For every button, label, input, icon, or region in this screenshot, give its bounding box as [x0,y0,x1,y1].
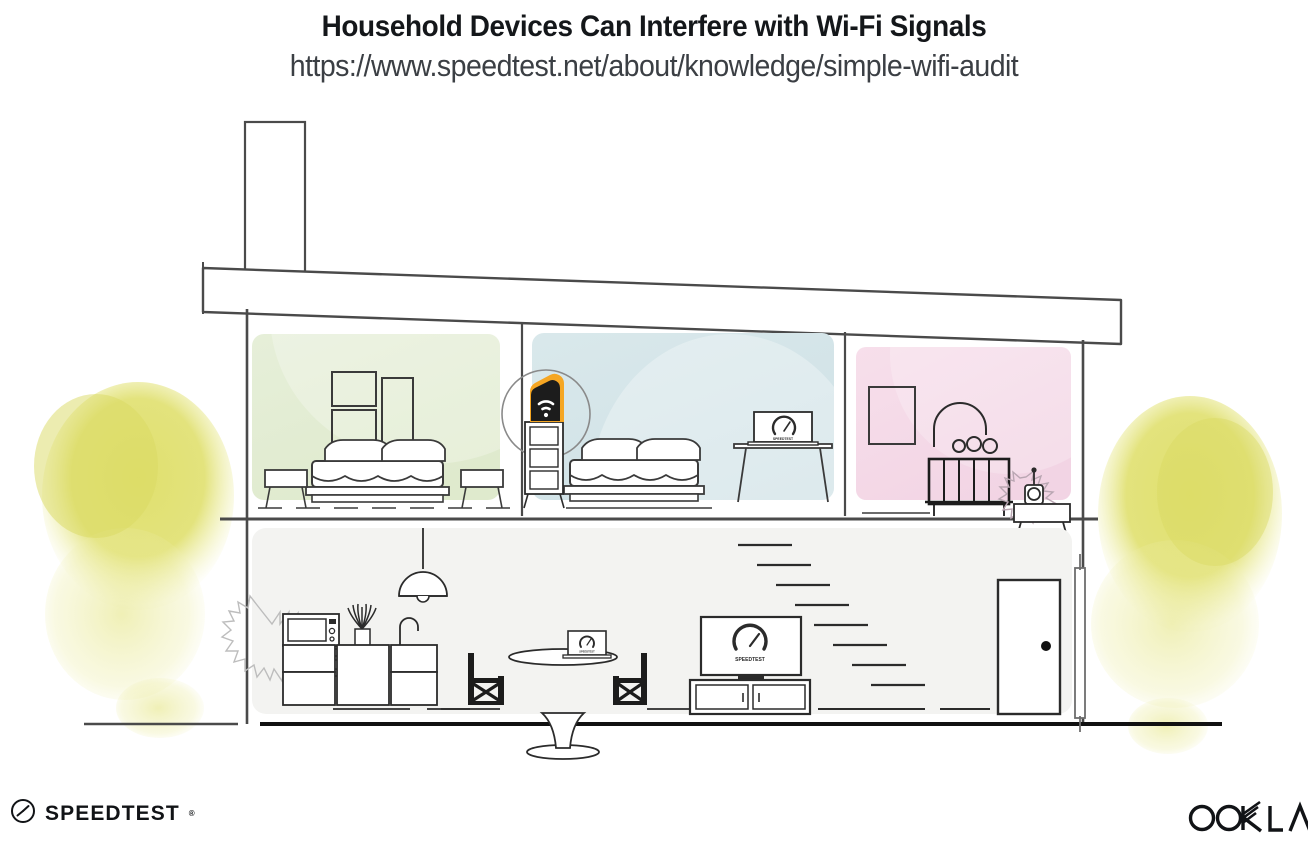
room-nursery-pink [856,234,1130,544]
speedtest-trademark: ® [189,809,195,818]
infographic-page: Household Devices Can Interfere with Wi-… [0,0,1308,861]
header: Household Devices Can Interfere with Wi-… [0,0,1308,85]
tree-right [1091,396,1282,754]
kitchen-counter [283,645,437,705]
bed [564,439,704,501]
microwave [283,614,339,646]
front-door[interactable] [998,580,1060,714]
footer: SPEEDTEST ® [0,780,1308,861]
source-url: https://www.speedtest.net/about/knowledg… [52,47,1255,85]
screen-brand-label: SPEEDTEST [773,437,794,441]
door-knob-icon [1041,641,1051,651]
laptop-speedtest[interactable]: SPEEDTEST [563,631,611,658]
tree-left [34,382,234,738]
laptop-speedtest[interactable]: SPEEDTEST [748,412,818,445]
tv-cabinet [690,680,810,714]
speedtest-wordmark: SPEEDTEST [45,802,180,826]
television-speedtest[interactable]: SPEEDTEST [701,617,801,679]
speedtest-logo: SPEEDTEST ® [10,798,195,829]
speedtest-gauge-icon [10,798,36,829]
ookla-logo [1184,798,1308,838]
page-title: Household Devices Can Interfere with Wi-… [46,9,1262,45]
screen-brand-label: SPEEDTEST [735,657,765,663]
bed [306,440,449,502]
house-illustration: SPEEDTEST [0,104,1308,764]
chimney [245,122,305,272]
screen-brand-label: SPEEDTEST [579,650,595,654]
downspout [1075,554,1085,732]
roof-slab [203,262,1121,344]
